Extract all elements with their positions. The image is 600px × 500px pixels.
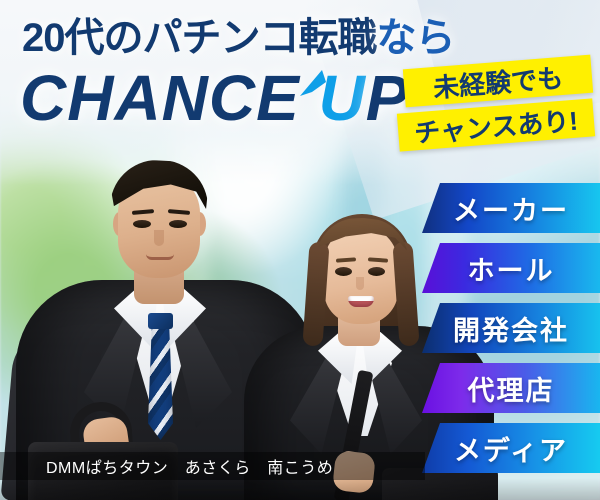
category-banner-agency[interactable]: 代理店 <box>422 363 600 413</box>
ad-banner[interactable]: 20代のパチンコ転職なら CHANCE UP 未経験でも チャンスあり! メーカ… <box>0 0 600 500</box>
man-eye-right <box>169 220 187 228</box>
headline-main-text: 20代のパチンコ転職 <box>22 16 377 60</box>
man-mouth <box>146 254 174 260</box>
woman-nose <box>356 277 364 290</box>
headline-japanese: 20代のパチンコ転職なら <box>22 18 455 58</box>
woman-eye-right <box>368 267 385 276</box>
up-letter-u: U <box>319 62 366 134</box>
category-label-4: メディア <box>454 429 568 468</box>
woman-face <box>324 226 398 324</box>
bottom-gradient-fade <box>0 478 600 500</box>
man-tie-knot <box>148 313 173 329</box>
category-label-0: メーカー <box>453 189 569 228</box>
credit-text: DMMぱちタウン あさくら 南こうめ <box>0 454 333 478</box>
man-striped-tie <box>148 320 173 440</box>
chance-word: CHANCE <box>20 62 319 134</box>
man-nose <box>154 230 164 246</box>
woman-mouth <box>348 296 374 307</box>
category-banner-developer[interactable]: 開発会社 <box>422 303 600 353</box>
category-banner-media[interactable]: メディア <box>422 423 600 473</box>
category-banner-hall[interactable]: ホール <box>422 243 600 293</box>
man-eye-left <box>133 220 151 228</box>
category-banner-maker[interactable]: メーカー <box>422 183 600 233</box>
credit-bar: DMMぱちタウン あさくら 南こうめ <box>0 452 425 480</box>
category-label-3: 代理店 <box>468 369 555 408</box>
category-label-2: 開発会社 <box>453 309 569 348</box>
headline-accent-text: なら <box>377 16 455 60</box>
woman-eye-left <box>335 267 352 276</box>
category-label-1: ホール <box>468 249 555 288</box>
headline-chance-up: CHANCE UP <box>20 66 409 130</box>
